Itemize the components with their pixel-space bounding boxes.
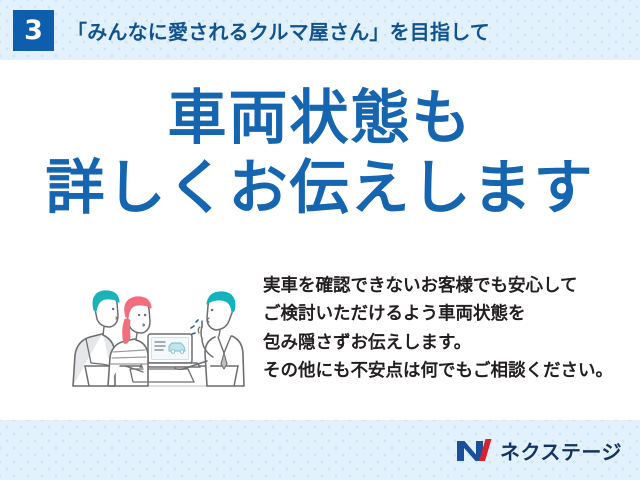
step-number-badge: 3 bbox=[13, 10, 54, 51]
header-title: 「みんなに愛されるクルマ屋さん」を目指して bbox=[67, 16, 490, 45]
brand-logo: ネクステージ bbox=[455, 436, 622, 465]
nextage-n-logo-icon bbox=[455, 437, 493, 463]
advertisement-banner: 3 「みんなに愛されるクルマ屋さん」を目指して 車両状態も 詳しくお伝えします bbox=[0, 0, 640, 480]
headline: 車両状態も 詳しくお伝えします bbox=[0, 88, 640, 218]
body-line-2: ご検討いただけるよう車両状態を bbox=[263, 299, 613, 327]
body-line-3: 包み隠さずお伝えします。 bbox=[263, 328, 613, 356]
step-number-label: 3 bbox=[24, 17, 43, 44]
body-text: 実車を確認できないお客様でも安心して ご検討いただけるよう車両状態を 包み隠さず… bbox=[263, 265, 613, 384]
header-bar: 3 「みんなに愛されるクルマ屋さん」を目指して bbox=[0, 0, 640, 60]
lower-section: 実車を確認できないお客様でも安心して ご検討いただけるよう車両状態を 包み隠さず… bbox=[0, 265, 640, 415]
body-line-1: 実車を確認できないお客様でも安心して bbox=[263, 271, 613, 299]
content-card: 車両状態も 詳しくお伝えします bbox=[0, 60, 640, 420]
brand-logo-text: ネクステージ bbox=[500, 436, 622, 465]
headline-line-1: 車両状態も bbox=[0, 88, 640, 148]
body-line-4: その他にも不安点は何でもご相談ください。 bbox=[263, 356, 613, 384]
headline-line-2: 詳しくお伝えします bbox=[0, 158, 640, 218]
consultation-illustration bbox=[55, 265, 255, 395]
footer-bar: ネクステージ bbox=[0, 420, 640, 480]
